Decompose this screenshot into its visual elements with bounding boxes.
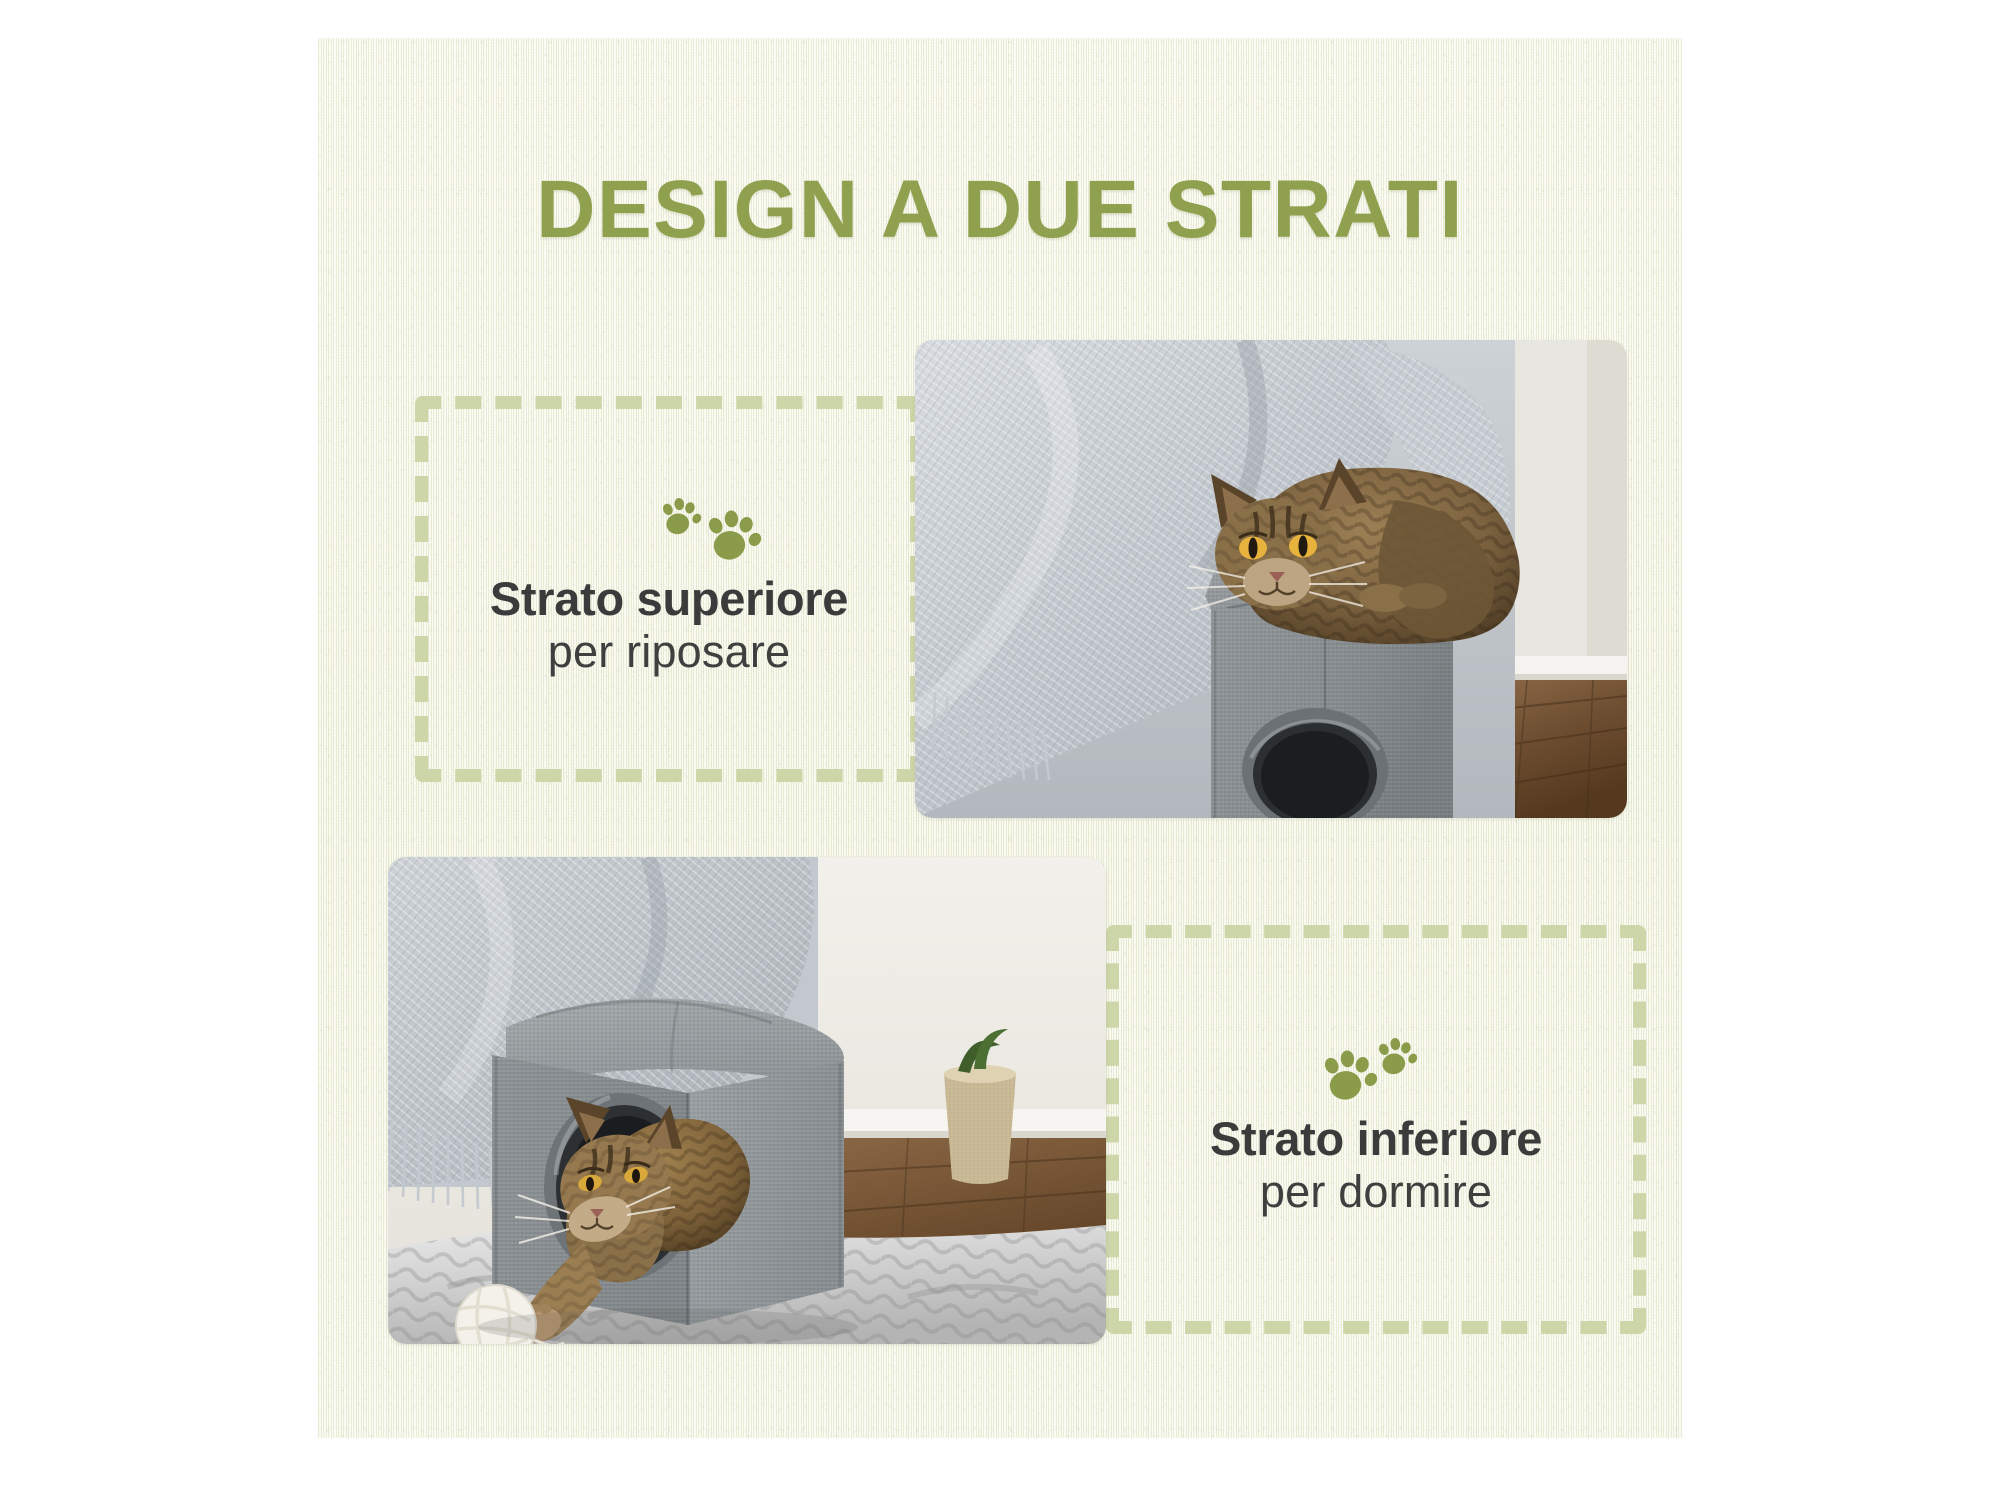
paw-prints-icon <box>1106 1038 1646 1100</box>
callout-lower-layer: Strato inferiore per dormire <box>1106 1038 1646 1217</box>
paw-prints-icon <box>415 498 923 560</box>
product-photo-top-layer <box>915 340 1627 818</box>
callout-lower-title: Strato inferiore <box>1106 1114 1646 1165</box>
poster-root: DESIGN A DUE STRATI <box>0 0 2000 1500</box>
product-photo-bottom-layer <box>388 857 1106 1344</box>
callout-upper-layer: Strato superiore per riposare <box>415 498 923 677</box>
callout-lower-subtitle: per dormire <box>1106 1167 1646 1217</box>
page-title: DESIGN A DUE STRATI <box>317 163 1683 257</box>
callout-upper-subtitle: per riposare <box>415 627 923 677</box>
poster-canvas: DESIGN A DUE STRATI <box>317 38 1683 1438</box>
callout-upper-title: Strato superiore <box>415 574 923 625</box>
